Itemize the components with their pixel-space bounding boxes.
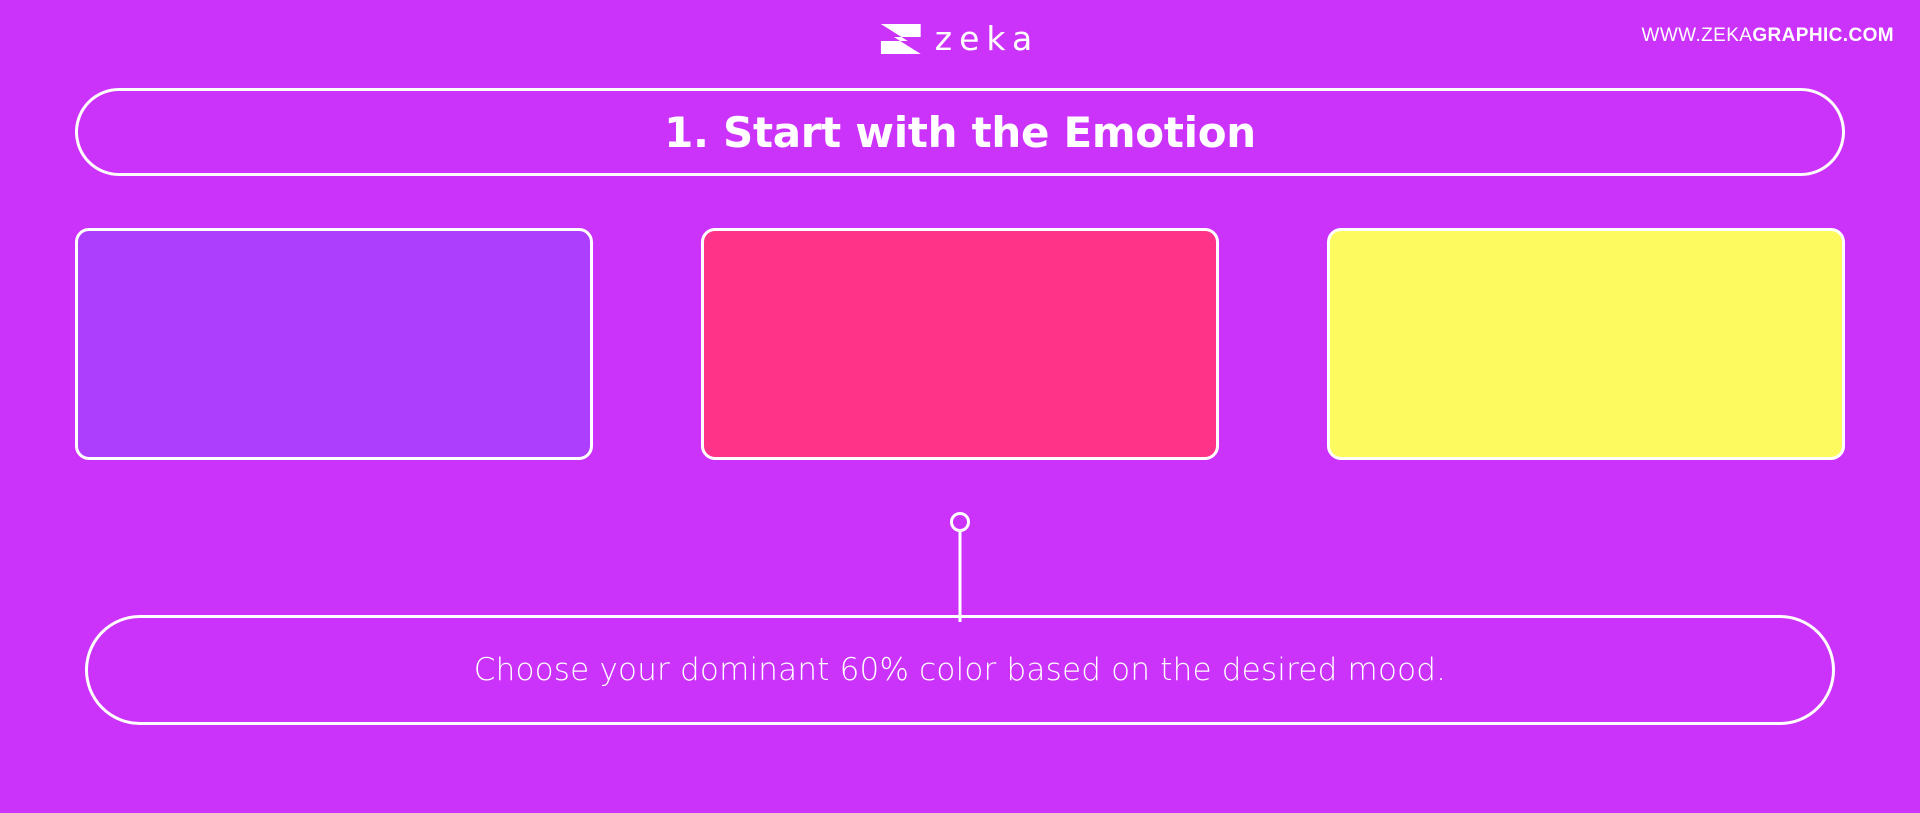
caption-text: Choose your dominant 60% color based on … [474,652,1446,688]
swatch-pink[interactable] [701,228,1219,460]
caption-pill: Choose your dominant 60% color based on … [85,615,1835,725]
connector [948,512,972,622]
site-url-bold: GRAPHIC.COM [1752,25,1894,46]
swatch-yellow[interactable] [1327,228,1845,460]
swatch-purple[interactable] [75,228,593,460]
site-url: WWW.ZEKAGRAPHIC.COM [1642,26,1894,45]
color-swatch-row [75,228,1845,460]
brand-logo: zeka [881,22,1039,55]
page-title: 1. Start with the Emotion [664,108,1256,157]
zeka-logo-mark-icon [881,24,921,54]
brand-name: zeka [935,22,1039,55]
connector-dot-icon [950,512,970,532]
page-header: zeka WWW.ZEKAGRAPHIC.COM [0,0,1920,70]
title-pill: 1. Start with the Emotion [75,88,1845,176]
connector-line [959,531,962,622]
site-url-light: WWW.ZEKA [1642,25,1753,46]
